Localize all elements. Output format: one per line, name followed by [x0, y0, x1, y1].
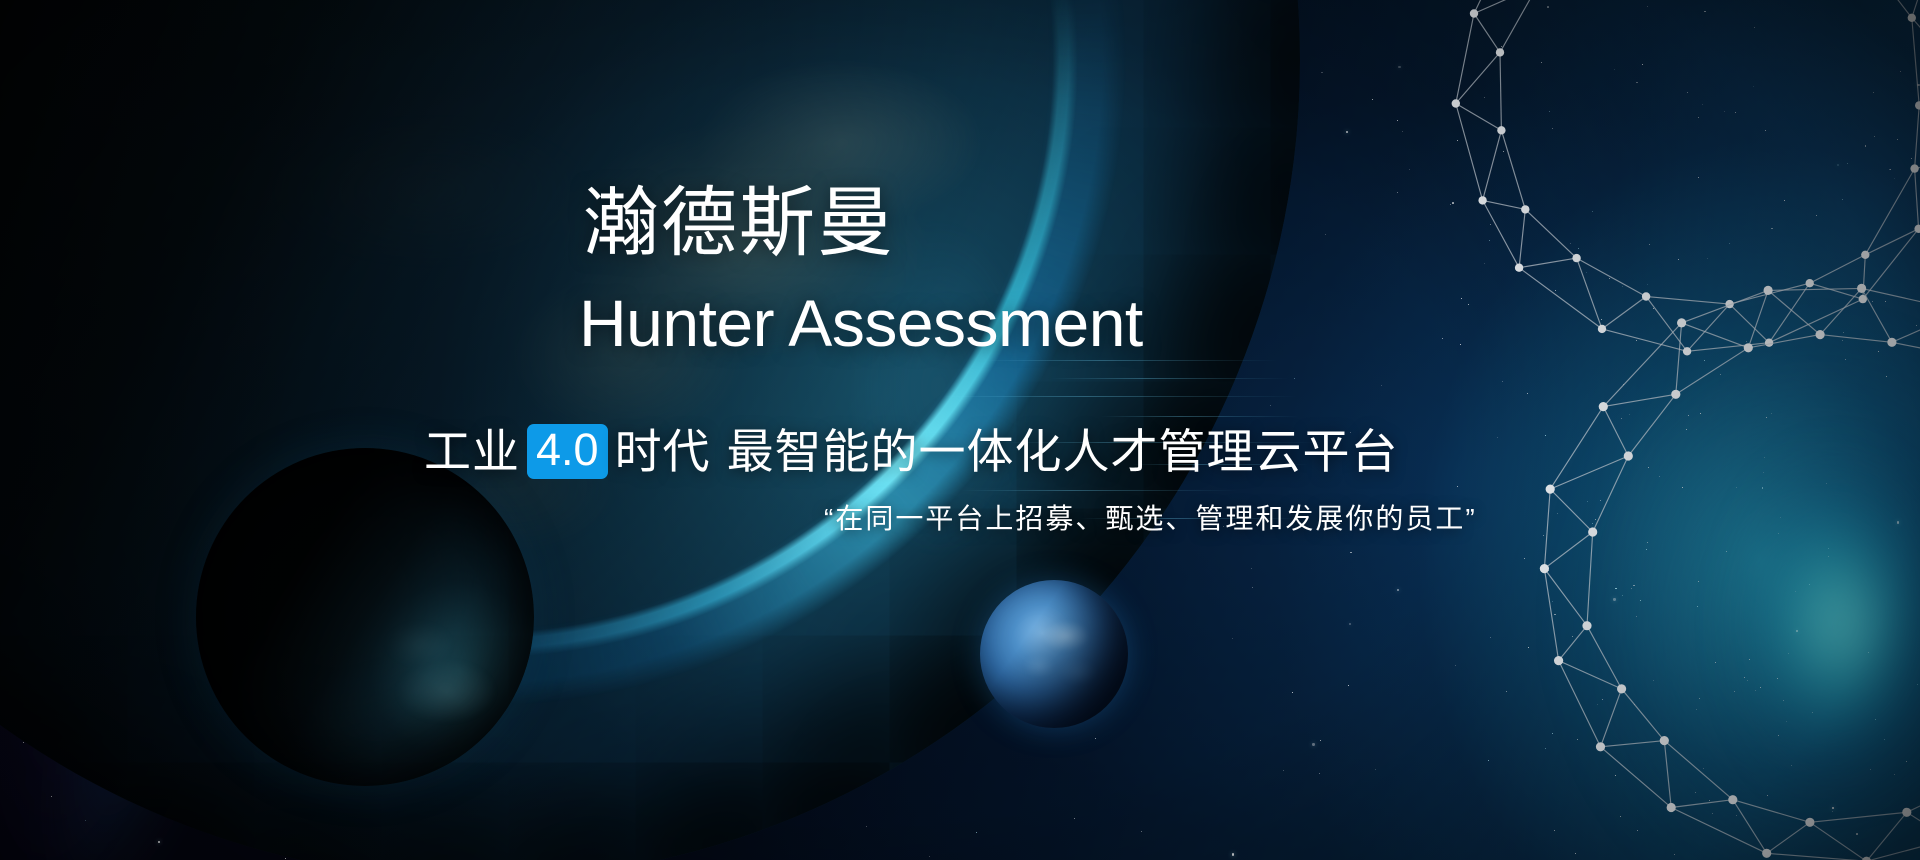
tagline-before: 工业: [424, 424, 520, 479]
dark-moon-shadow: [196, 448, 534, 786]
page-title-english: Hunter Assessment: [579, 290, 1143, 356]
tagline: 工业 4.0 时代 最智能的一体化人才管理云平台: [424, 424, 1399, 479]
nebula-core-glow: [1690, 430, 1920, 860]
page-title-chinese: 瀚德斯曼: [583, 186, 895, 262]
blue-moon-shadow: [980, 580, 1128, 728]
hero-quote: “在同一平台上招募、甄选、管理和发展你的员工”: [824, 500, 1477, 538]
tagline-after-1: 时代: [615, 424, 711, 479]
tagline-after-2: 最智能的一体化人才管理云平台: [727, 424, 1399, 479]
industry-version-badge: 4.0: [527, 424, 608, 479]
hero-banner: 瀚德斯曼 Hunter Assessment 工业 4.0 时代 最智能的一体化…: [0, 0, 1920, 860]
